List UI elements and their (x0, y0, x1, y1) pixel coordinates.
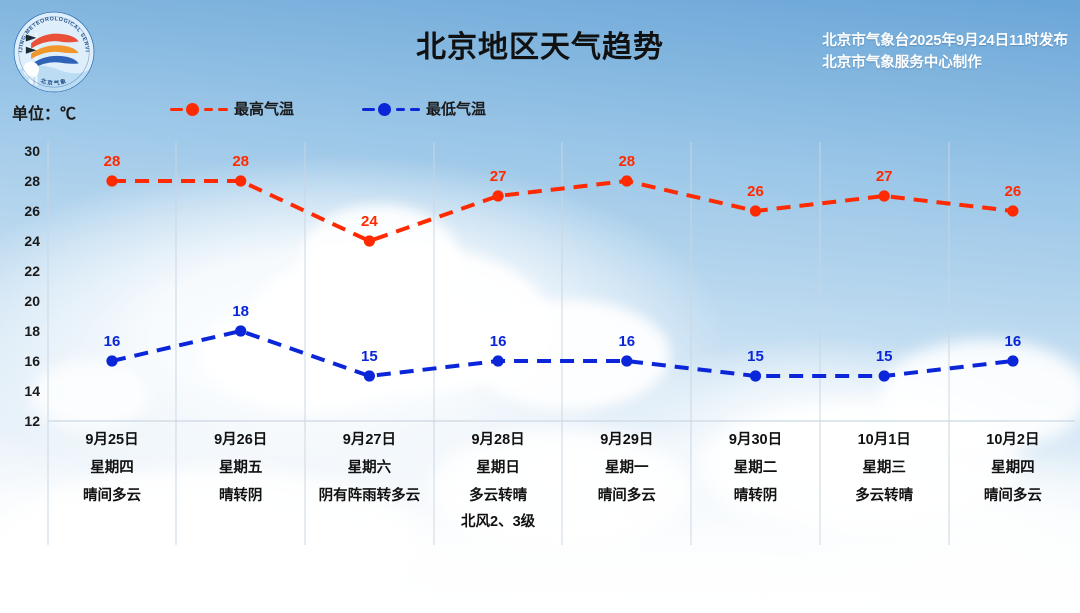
data-point-marker[interactable] (621, 175, 632, 186)
high-temp-value-label: 24 (361, 213, 378, 230)
y-axis-tick-label: 12 (0, 413, 40, 429)
y-axis-tick-label: 26 (0, 203, 40, 219)
y-axis-tick-label: 30 (0, 143, 40, 159)
data-point-marker[interactable] (1007, 205, 1018, 216)
low-temp-value-label: 15 (361, 348, 378, 365)
data-point-marker[interactable] (750, 370, 761, 381)
high-temp-value-label: 28 (232, 153, 249, 170)
data-point-marker[interactable] (364, 370, 375, 381)
day-date-label: 9月29日 (563, 428, 691, 453)
y-axis-tick-label: 22 (0, 263, 40, 279)
y-axis-tick-label: 20 (0, 293, 40, 309)
data-point-marker[interactable] (493, 355, 504, 366)
y-axis-tick-label: 24 (0, 233, 40, 249)
day-weekday-label: 星期三 (820, 453, 948, 483)
x-axis-day-column[interactable]: 9月27日星期六阴有阵雨转多云 (305, 428, 433, 509)
low-temp-value-label: 16 (1005, 333, 1022, 350)
data-point-marker[interactable] (879, 190, 890, 201)
day-condition-label: 晴转阴 (177, 483, 305, 509)
day-weekday-label: 星期五 (177, 453, 305, 483)
low-temp-value-label: 16 (490, 333, 507, 350)
high-temp-value-label: 28 (618, 153, 635, 170)
low-temp-value-label: 15 (747, 348, 764, 365)
y-axis-tick-label: 18 (0, 323, 40, 339)
day-date-label: 10月1日 (820, 428, 948, 453)
x-axis-day-column[interactable]: 9月30日星期二晴转阴 (692, 428, 820, 509)
day-weekday-label: 星期六 (305, 453, 433, 483)
day-condition-label: 多云转晴 (434, 483, 562, 509)
data-point-marker[interactable] (879, 370, 890, 381)
x-axis-day-column[interactable]: 9月28日星期日多云转晴北风2、3级 (434, 428, 562, 535)
day-condition-label: 晴间多云 (563, 483, 691, 509)
low-temp-value-label: 16 (104, 333, 121, 350)
day-weekday-label: 星期一 (563, 453, 691, 483)
day-wind-label: 北风2、3级 (434, 509, 562, 535)
data-point-marker[interactable] (235, 325, 246, 336)
day-condition-label: 晴间多云 (949, 483, 1077, 509)
day-date-label: 9月27日 (305, 428, 433, 453)
data-point-marker[interactable] (106, 175, 117, 186)
day-condition-label: 阴有阵雨转多云 (305, 483, 433, 509)
data-point-marker[interactable] (621, 355, 632, 366)
data-point-marker[interactable] (106, 355, 117, 366)
day-date-label: 9月30日 (692, 428, 820, 453)
high-temp-value-label: 28 (104, 153, 121, 170)
high-temp-value-label: 26 (747, 183, 764, 200)
day-weekday-label: 星期二 (692, 453, 820, 483)
day-condition-label: 晴转阴 (692, 483, 820, 509)
day-weekday-label: 星期日 (434, 453, 562, 483)
y-axis-tick-label: 28 (0, 173, 40, 189)
day-date-label: 9月28日 (434, 428, 562, 453)
day-date-label: 10月2日 (949, 428, 1077, 453)
low-temp-value-label: 16 (618, 333, 635, 350)
data-point-marker[interactable] (750, 205, 761, 216)
data-point-marker[interactable] (493, 190, 504, 201)
x-axis-day-column[interactable]: 9月29日星期一晴间多云 (563, 428, 691, 509)
x-axis-day-column[interactable]: 9月25日星期四晴间多云 (48, 428, 176, 509)
day-weekday-label: 星期四 (48, 453, 176, 483)
y-axis-tick-label: 16 (0, 353, 40, 369)
data-point-marker[interactable] (235, 175, 246, 186)
day-condition-label: 晴间多云 (48, 483, 176, 509)
day-date-label: 9月25日 (48, 428, 176, 453)
low-temp-value-label: 18 (232, 303, 249, 320)
high-temp-value-label: 26 (1005, 183, 1022, 200)
y-axis-tick-label: 14 (0, 383, 40, 399)
low-temp-value-label: 15 (876, 348, 893, 365)
x-axis-day-column[interactable]: 10月2日星期四晴间多云 (949, 428, 1077, 509)
high-temp-value-label: 27 (490, 168, 507, 185)
x-axis-day-column[interactable]: 9月26日星期五晴转阴 (177, 428, 305, 509)
chart-plot-area: 30282624222018161412 2828242728262726161… (0, 0, 1080, 613)
day-weekday-label: 星期四 (949, 453, 1077, 483)
data-point-marker[interactable] (364, 235, 375, 246)
data-point-marker[interactable] (1007, 355, 1018, 366)
high-temp-value-label: 27 (876, 168, 893, 185)
day-date-label: 9月26日 (177, 428, 305, 453)
weather-trend-infographic: BEIJING METEOROLOGICAL SERVICE 北京气象 北京地区… (0, 0, 1080, 613)
day-condition-label: 多云转晴 (820, 483, 948, 509)
x-axis-day-column[interactable]: 10月1日星期三多云转晴 (820, 428, 948, 509)
